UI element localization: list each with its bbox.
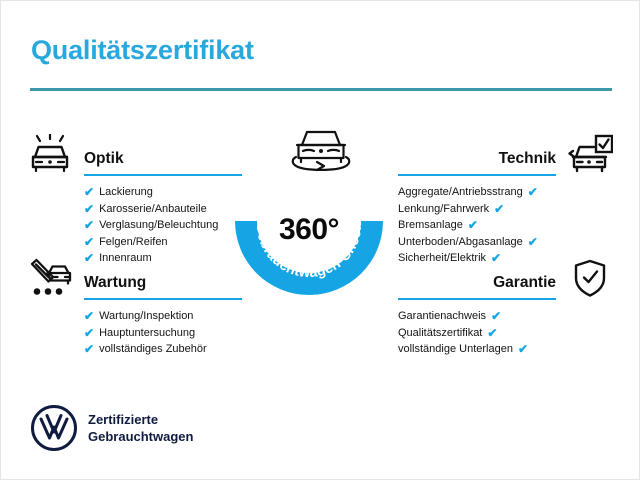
- section-title-wartung: Wartung: [84, 274, 146, 292]
- section-header-optik: Optik: [27, 134, 242, 178]
- section-title-garantie: Garantie: [493, 274, 556, 292]
- section-divider-technik: [398, 174, 556, 176]
- list-item: ✔Bremsanlage: [398, 217, 556, 234]
- certificate-canvas: Qualitätszertifikat: [0, 0, 640, 480]
- list-item: ✔Lenkung/Fahrwerk: [398, 201, 556, 218]
- list-item-label: Karosserie/Anbauteile: [99, 201, 207, 218]
- section-header-wartung: Wartung: [27, 258, 242, 302]
- checklist-technik: ✔Aggregate/Antriebsstrang ✔Lenkung/Fahrw…: [398, 184, 613, 267]
- list-item: ✔vollständige Unterlagen: [398, 341, 556, 358]
- section-title-technik: Technik: [499, 150, 556, 168]
- section-garantie: Garantie ✔Garantienachweis ✔Qualitätszer…: [398, 258, 613, 358]
- check-icon: ✔: [487, 327, 497, 339]
- check-icon: ✔: [84, 219, 94, 231]
- check-icon: ✔: [84, 310, 94, 322]
- list-item-label: Felgen/Reifen: [99, 234, 168, 251]
- check-icon: ✔: [84, 203, 94, 215]
- check-icon: ✔: [528, 186, 538, 198]
- check-icon: ✔: [84, 327, 94, 339]
- list-item-label: Wartung/Inspektion: [99, 308, 193, 325]
- list-item-label: Aggregate/Antriebsstrang: [398, 184, 523, 201]
- checklist-wartung: ✔Wartung/Inspektion ✔Hauptuntersuchung ✔…: [27, 308, 242, 358]
- header-divider: [30, 88, 612, 91]
- list-item-label: Hauptuntersuchung: [99, 325, 195, 342]
- list-item-label: Qualitätszertifikat: [398, 325, 482, 342]
- section-divider-garantie: [398, 298, 556, 300]
- vw-brand-line2: Gebrauchtwagen: [88, 428, 193, 445]
- check-icon: ✔: [84, 343, 94, 355]
- car-checkbox-icon: [567, 134, 613, 174]
- checklist-garantie: ✔Garantienachweis ✔Qualitätszertifikat ✔…: [398, 308, 613, 358]
- wrench-car-icon: [27, 258, 73, 298]
- section-title-optik: Optik: [84, 150, 124, 168]
- list-item: ✔Karosserie/Anbauteile: [84, 201, 242, 218]
- list-item-label: Lenkung/Fahrwerk: [398, 201, 489, 218]
- list-item-label: Bremsanlage: [398, 217, 463, 234]
- list-item: ✔Wartung/Inspektion: [84, 308, 242, 325]
- list-item: ✔Garantienachweis: [398, 308, 556, 325]
- list-item-label: vollständiges Zubehör: [99, 341, 207, 358]
- section-header-garantie: Garantie: [398, 258, 613, 302]
- list-item-label: Unterboden/Abgasanlage: [398, 234, 523, 251]
- list-item-label: Verglasung/Beleuchtung: [99, 217, 218, 234]
- check-icon: ✔: [494, 203, 504, 215]
- section-technik: Technik ✔Aggregate/Antriebsstrang ✔Lenku…: [398, 134, 613, 267]
- list-item: ✔Qualitätszertifikat: [398, 325, 556, 342]
- check-icon: ✔: [518, 343, 528, 355]
- list-item-label: vollständige Unterlagen: [398, 341, 513, 358]
- list-item: ✔Unterboden/Abgasanlage: [398, 234, 556, 251]
- section-wartung: Wartung ✔Wartung/Inspektion ✔Hauptunters…: [27, 258, 242, 358]
- list-item-label: Lackierung: [99, 184, 153, 201]
- list-item: ✔vollständiges Zubehör: [84, 341, 242, 358]
- list-item: ✔Hauptuntersuchung: [84, 325, 242, 342]
- vw-brand-line1: Zertifizierte: [88, 411, 193, 428]
- footer-brand: Zertifizierte Gebrauchtwagen: [31, 405, 193, 451]
- check-icon: ✔: [84, 186, 94, 198]
- list-item-label: Garantienachweis: [398, 308, 486, 325]
- section-divider-wartung: [84, 298, 242, 300]
- car-rotation-icon: [284, 125, 358, 175]
- badge-degrees-label: 360°: [233, 213, 385, 247]
- checklist-optik: ✔Lackierung ✔Karosserie/Anbauteile ✔Verg…: [27, 184, 242, 267]
- section-optik: Optik ✔Lackierung ✔Karosserie/Anbauteile…: [27, 134, 242, 267]
- car-shine-icon: [27, 134, 73, 174]
- list-item: ✔Aggregate/Antriebsstrang: [398, 184, 556, 201]
- section-divider-optik: [84, 174, 242, 176]
- list-item: ✔Verglasung/Beleuchtung: [84, 217, 242, 234]
- page-title: Qualitätszertifikat: [31, 35, 254, 66]
- vw-brand-text: Zertifizierte Gebrauchtwagen: [88, 411, 193, 445]
- vw-logo: [31, 405, 77, 451]
- list-item: ✔Felgen/Reifen: [84, 234, 242, 251]
- check-icon: ✔: [528, 236, 538, 248]
- check-icon: ✔: [491, 310, 501, 322]
- check-icon: ✔: [468, 219, 478, 231]
- shield-check-icon: [567, 258, 613, 298]
- check-icon: ✔: [84, 236, 94, 248]
- section-header-technik: Technik: [398, 134, 613, 178]
- list-item: ✔Lackierung: [84, 184, 242, 201]
